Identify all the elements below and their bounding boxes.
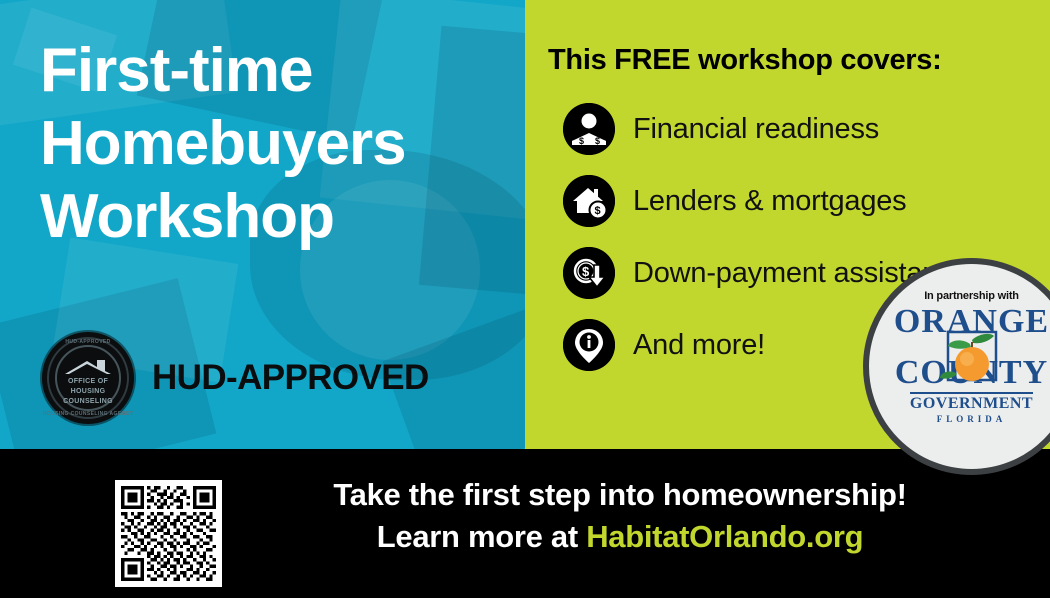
info-pin-icon — [563, 319, 615, 371]
financial-readiness-icon: $ $ — [563, 103, 615, 155]
cta-headline: Take the first step into homeownership! — [250, 477, 990, 513]
page-title: First-time Homebuyers Workshop — [40, 34, 510, 253]
title-line-1: First-time — [40, 34, 510, 107]
call-to-action: Take the first step into homeownership! … — [250, 477, 990, 555]
hud-seal-line-3: COUNSELING — [60, 397, 116, 407]
title-line-3: Workshop — [40, 180, 510, 253]
blue-panel: First-time Homebuyers Workshop HUD-APPRO… — [0, 0, 525, 449]
hud-seal-line-2: HOUSING — [60, 387, 116, 397]
list-item-label: Financial readiness — [633, 113, 879, 145]
hud-seal-line-1: OFFICE OF — [60, 377, 116, 387]
house-dollar-icon: $ — [563, 175, 615, 227]
hud-seal-text: OFFICE OF HOUSING COUNSELING — [60, 377, 116, 407]
hud-seal-arc-bottom: HOUSING COUNSELING AGENCY — [42, 411, 134, 417]
poster: First-time Homebuyers Workshop HUD-APPRO… — [0, 0, 1050, 598]
hud-seal-arc-top: HUD-APPROVED — [42, 339, 134, 345]
covers-heading: This FREE workshop covers: — [548, 44, 941, 77]
svg-text:$: $ — [595, 205, 601, 217]
svg-text:$: $ — [579, 136, 584, 146]
cta-subline: Learn more at HabitatOrlando.org — [250, 519, 990, 555]
footer-bar: Take the first step into homeownership! … — [0, 449, 1050, 598]
partner-intro-label: In partnership with — [869, 290, 1050, 302]
hud-seal-icon: HUD-APPROVED OFFICE OF HOUSING COUNSELIN… — [42, 332, 134, 424]
coin-down-arrow-icon: $ — [563, 247, 615, 299]
list-item: $ Lenders & mortgages — [563, 170, 1033, 232]
list-item-label: Lenders & mortgages — [633, 185, 906, 217]
qr-code[interactable] — [115, 480, 222, 587]
roof-graphic — [63, 358, 113, 375]
hud-approved-label: HUD-APPROVED — [152, 358, 429, 398]
svg-text:$: $ — [595, 136, 600, 146]
title-line-2: Homebuyers — [40, 107, 510, 180]
website-url-link[interactable]: HabitatOrlando.org — [586, 519, 863, 554]
logo-line-florida: FLORIDA — [869, 414, 1050, 424]
orange-fruit-icon — [932, 328, 1012, 390]
logo-line-government: GOVERNMENT — [910, 392, 1033, 413]
hud-approved-row: HUD-APPROVED OFFICE OF HOUSING COUNSELIN… — [42, 332, 429, 424]
list-item-label: And more! — [633, 329, 765, 361]
list-item: $ $ Financial readiness — [563, 98, 1033, 160]
cta-prefix: Learn more at — [377, 519, 586, 554]
